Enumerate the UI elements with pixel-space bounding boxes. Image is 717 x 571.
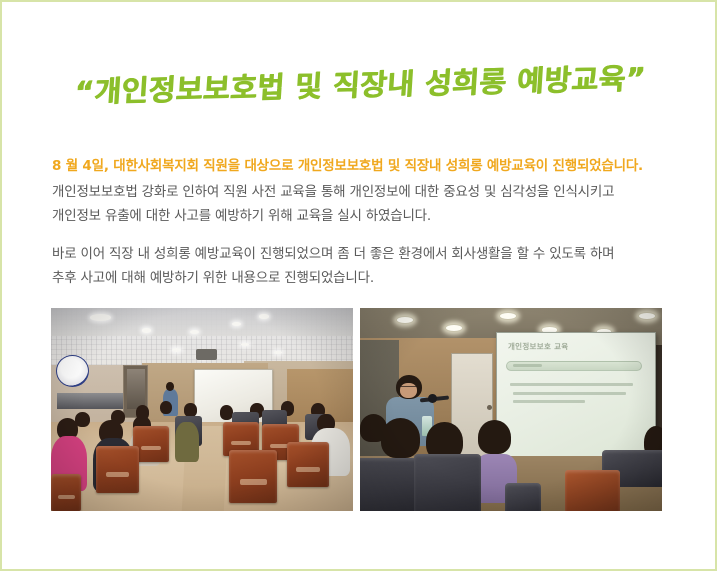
ceiling-light [142, 328, 152, 332]
slide-body-line [510, 383, 633, 386]
attendee-head [184, 403, 197, 416]
paragraph-two-line-two: 추후 사고에 대해 예방하기 위한 내용으로 진행되었습니다. [52, 266, 672, 290]
wall-poster [127, 369, 145, 410]
wooden-chair [51, 474, 81, 511]
paragraph-one-line-one: 개인정보보호법 강화로 인하여 직원 사전 교육을 통해 개인정보에 대한 중요… [52, 180, 672, 204]
ceiling-vent-panel [51, 308, 353, 336]
page-title-text: “개인정보보호법 및 직장내 성희롱 예방교육” [74, 55, 647, 111]
attendee-head [478, 420, 511, 455]
ceiling-light [241, 343, 249, 347]
lead-paragraph: 8 월 4일, 대한사회복지회 직원을 대상으로 개인정보보호법 및 직장내 성… [52, 154, 672, 178]
wooden-chair [565, 470, 619, 511]
door-knob [487, 405, 492, 410]
attendee-head [160, 401, 172, 414]
wall-emblem [56, 355, 89, 387]
page-title: “개인정보보호법 및 직장내 성희롱 예방교육” [2, 54, 717, 112]
auditorium-seat [414, 454, 480, 511]
wooden-chair [229, 450, 277, 503]
ceiling-projector [196, 349, 217, 360]
auditorium-seat [360, 458, 420, 511]
ceiling-light [259, 314, 269, 318]
page-container: “개인정보보호법 및 직장내 성희롱 예방교육” 8 월 4일, 대한사회복지회… [0, 0, 717, 571]
ceiling-light [172, 348, 181, 352]
paragraph-two-line-one: 바로 이어 직장 내 성희롱 예방교육이 진행되었으며 좀 더 좋은 환경에서 … [52, 242, 672, 266]
projection-screen: 개인정보보호 교육 [496, 332, 656, 458]
article-body: 8 월 4일, 대한사회복지회 직원을 대상으로 개인정보보호법 및 직장내 성… [52, 154, 672, 290]
auditorium-seat [505, 483, 541, 511]
microphone-head [428, 394, 437, 403]
wooden-chair [287, 442, 329, 487]
paragraph-one-line-two: 개인정보 유출에 대한 사고를 예방하기 위해 교육을 실시 하였습니다. [52, 204, 672, 228]
wooden-chair [96, 446, 138, 493]
lecturer-glasses [401, 386, 417, 389]
attendee-body [175, 422, 199, 463]
side-counter [57, 393, 129, 409]
slide-highlight-bar [506, 361, 642, 371]
photo-seminar-room-audience [51, 308, 353, 511]
photo-lecturer-with-screen: 개인정보보호 교육 [360, 308, 662, 511]
presenter-head [166, 382, 174, 391]
attendee-head [381, 418, 420, 459]
slide-body-line [513, 400, 586, 403]
photo-gallery: 개인정보보호 교육 [51, 308, 663, 511]
slide-title-text: 개인정보보호 교육 [508, 341, 569, 352]
slide-body-line [513, 392, 627, 395]
